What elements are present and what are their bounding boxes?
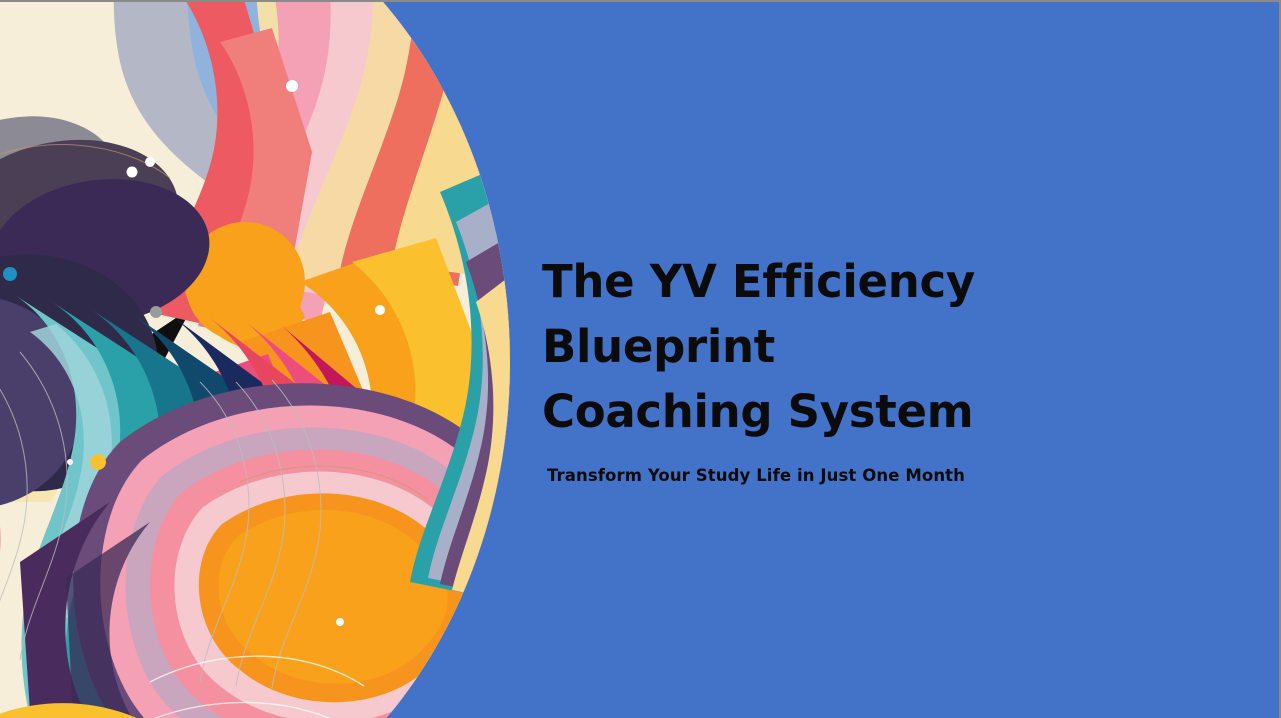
page-title: The YV Efficiency Blueprint Coaching Sys… (542, 250, 1182, 444)
slide-subtitle: Transform Your Study Life in Just One Mo… (547, 466, 1182, 486)
artwork-shapes (0, 0, 510, 718)
abstract-organic-illustration (0, 0, 510, 718)
slide-text-block: The YV Efficiency Blueprint Coaching Sys… (542, 250, 1182, 486)
slide-canvas: The YV Efficiency Blueprint Coaching Sys… (0, 0, 1281, 718)
